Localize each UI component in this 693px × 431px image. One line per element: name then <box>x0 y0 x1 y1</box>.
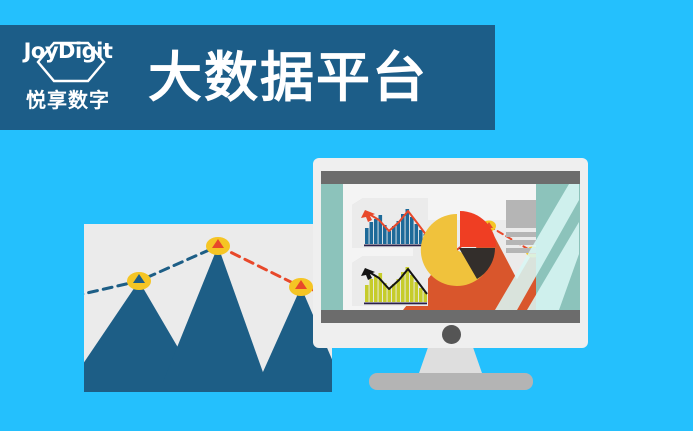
blue-mountain-chart <box>84 224 332 392</box>
blue-bar-chart-card <box>352 198 428 248</box>
page-title: 大数据平台 <box>148 51 428 105</box>
monitor-power-indicator[interactable] <box>442 325 461 344</box>
logo-wordmark: JoyDigit <box>12 41 124 62</box>
trend-line-blue <box>84 246 218 296</box>
monitor-bezel-top <box>321 171 580 184</box>
monitor-stand-neck <box>418 348 483 376</box>
mountain-shapes <box>84 246 332 392</box>
monitor-stand-base <box>369 373 533 390</box>
monitor-bezel-bottom <box>321 310 580 323</box>
desktop-monitor <box>313 158 588 389</box>
poster-canvas: JoyDigit 悦享数字 大数据平台 <box>0 0 693 431</box>
header-bar: JoyDigit 悦享数字 大数据平台 <box>0 25 495 130</box>
monitor-screen[interactable] <box>321 184 580 310</box>
joydigit-logo: JoyDigit 悦享数字 <box>12 35 124 121</box>
blue-mountain-panel <box>84 224 332 392</box>
olive-bar-chart-card <box>352 256 428 306</box>
logo-subtitle: 悦享数字 <box>12 90 124 110</box>
